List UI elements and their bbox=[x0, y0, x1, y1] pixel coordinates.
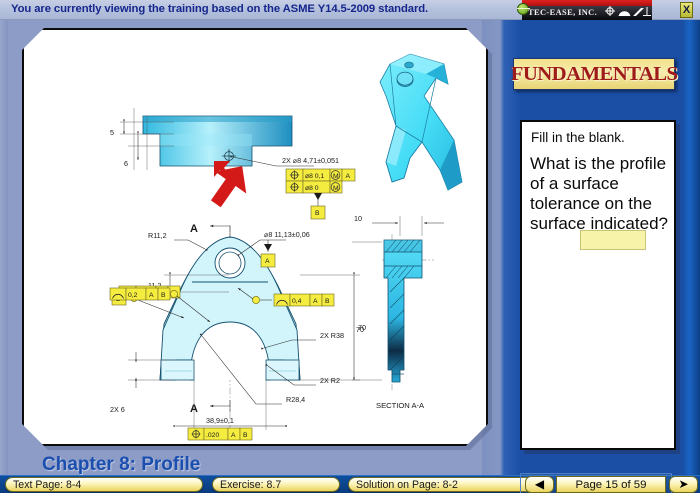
close-button[interactable]: X bbox=[680, 2, 693, 18]
exercise-button[interactable]: Exercise: 8.7 bbox=[212, 477, 340, 492]
page-title: Chapter 8: Profile bbox=[42, 454, 200, 476]
pos-fcf-datum-b: B bbox=[243, 432, 248, 439]
question-panel: Fill in the blank. What is the profile o… bbox=[520, 120, 676, 450]
radius-r28-label: R28,4 bbox=[286, 395, 305, 404]
page-indicator: Page 15 of 59 bbox=[556, 476, 666, 493]
next-page-button[interactable]: ➤ bbox=[669, 476, 698, 493]
answer-input[interactable] bbox=[580, 230, 646, 250]
drawing-panel: 5 6 2X ⌀8 4,71±0,051 bbox=[22, 28, 488, 446]
profile-right-tol: 0,4 bbox=[292, 298, 302, 305]
fcf-tol-row1: ⌀8 0,1 bbox=[305, 173, 324, 180]
hole-note-label: 2X ⌀8 4,71±0,051 bbox=[282, 156, 339, 165]
fcf-mmc-row2: M bbox=[333, 185, 339, 192]
previous-page-button[interactable]: ◀ bbox=[525, 476, 554, 493]
top-view-group: 5 6 2X ⌀8 4,71±0,051 bbox=[110, 108, 355, 219]
profile-left-tol: 0,2 bbox=[128, 292, 138, 299]
profile-left-datum-b: B bbox=[161, 292, 166, 299]
radius-top-label: R11,2 bbox=[148, 231, 167, 240]
fundamentals-banner-text: FUNDAMENTALS bbox=[511, 63, 677, 86]
datum-feature-a: A bbox=[261, 240, 275, 267]
section-view-group: 10 bbox=[352, 214, 444, 410]
radius-r38-label: 2X R38 bbox=[320, 331, 344, 340]
engineering-drawing: 5 6 2X ⌀8 4,71±0,051 bbox=[24, 30, 486, 444]
section-view-label: SECTION A-A bbox=[376, 401, 425, 410]
logo-company-name: TEC-EASE, INC. bbox=[528, 8, 597, 17]
radius-r2-label: 2X R2 bbox=[320, 376, 340, 385]
section-marker-bottom: A bbox=[190, 400, 230, 415]
section-letter-bottom: A bbox=[190, 403, 198, 415]
isometric-model-view bbox=[380, 54, 462, 190]
fundamentals-banner: FUNDAMENTALS bbox=[513, 58, 675, 90]
position-fcf-bottom: .020 A B bbox=[188, 428, 252, 440]
width-dim-label: 38,9±0,1 bbox=[206, 416, 234, 425]
dim-5-label: 5 bbox=[110, 128, 114, 137]
question-text: What is the profile of a surface toleran… bbox=[530, 154, 675, 234]
thickness-2x6-label: 2X 6 bbox=[110, 405, 125, 414]
fcf-datum-a: A bbox=[346, 173, 351, 180]
question-prompt: Fill in the blank. bbox=[531, 130, 625, 145]
fcf-tol-row2: ⌀8 0 bbox=[305, 185, 319, 192]
left-gutter bbox=[0, 20, 8, 493]
datum-a-label: A bbox=[265, 258, 270, 265]
datum-feature-b-top: B bbox=[311, 193, 325, 219]
profile-right-datum-a: A bbox=[313, 298, 318, 305]
dim-6-label: 6 bbox=[124, 159, 128, 168]
standard-notice-text: You are currently viewing the training b… bbox=[11, 3, 428, 15]
gdt-symbols-group bbox=[604, 5, 650, 18]
datum-b-top-label: B bbox=[315, 210, 320, 217]
section-letter-top: A bbox=[190, 223, 198, 235]
front-view-group: R11,2 ⌀8 11,13±0,06 A 11,2 bbox=[110, 223, 364, 440]
status-bar: You are currently viewing the training b… bbox=[0, 0, 700, 20]
pos-fcf-tol: .020 bbox=[206, 432, 219, 439]
profile-right-datum-b: B bbox=[325, 298, 330, 305]
feature-control-frame-top: ⌀8 0,1 ⌀8 0 M M A bbox=[286, 169, 355, 193]
section-dim-10-label: 10 bbox=[354, 214, 362, 223]
pagination-group: ◀ Page 15 of 59 ➤ bbox=[520, 473, 672, 493]
right-edge-bevel bbox=[684, 20, 700, 493]
pos-fcf-datum-a: A bbox=[231, 432, 236, 439]
profile-left-datum-a: A bbox=[149, 292, 154, 299]
fcf-mmc-row1: M bbox=[333, 173, 339, 180]
position-symbol-icon bbox=[604, 5, 616, 19]
section-marker-top: A bbox=[190, 223, 230, 238]
hole-dia-label: ⌀8 11,13±0,06 bbox=[264, 230, 310, 239]
tec-ease-logo: TEC-EASE, INC. bbox=[508, 0, 671, 20]
app-stage: 5 6 2X ⌀8 4,71±0,051 bbox=[0, 20, 700, 493]
solution-page-button[interactable]: Solution on Page: 8-2 bbox=[348, 477, 542, 492]
profile-surface-symbol-icon bbox=[618, 6, 631, 19]
perpendicularity-symbol-icon bbox=[642, 6, 652, 19]
section-dim-70-label: 70 bbox=[358, 323, 366, 332]
text-page-button[interactable]: Text Page: 8-4 bbox=[5, 477, 203, 492]
